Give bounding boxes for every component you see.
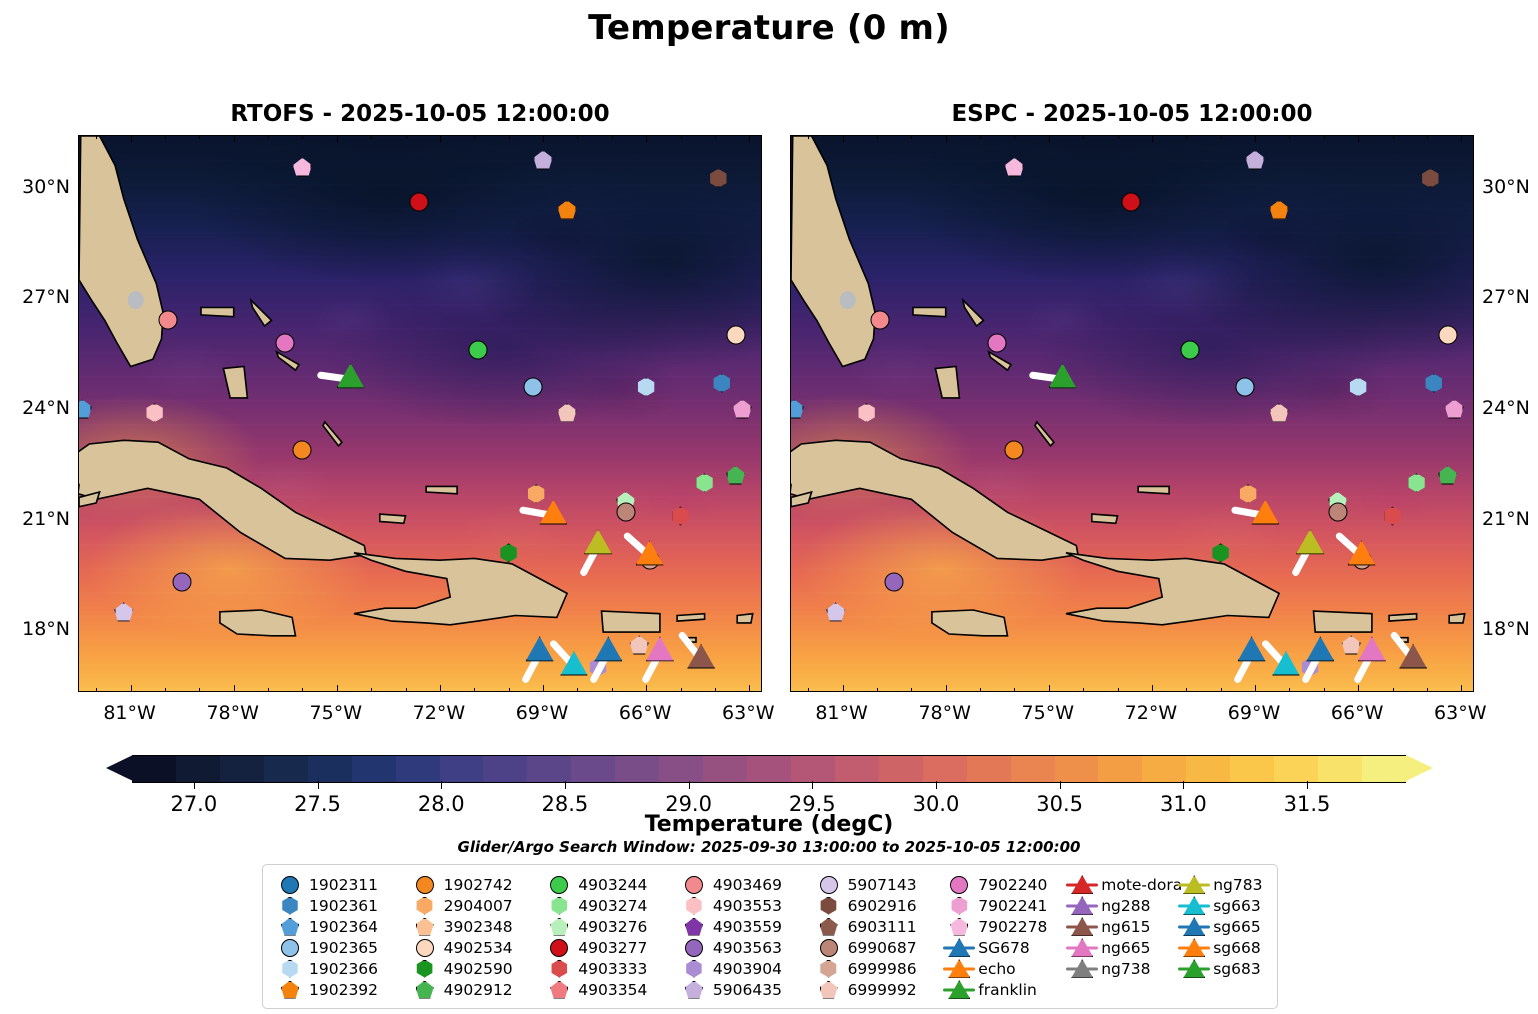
- legend-item-4903563[interactable]: 4903563: [677, 937, 812, 958]
- legend-item-7902278[interactable]: 7902278: [942, 916, 1065, 937]
- legend-item-label: 3902348: [442, 918, 513, 936]
- legend-item-4903559[interactable]: 4903559: [677, 916, 812, 937]
- x-tick-major: [1461, 135, 1462, 142]
- land-virgin-islands: [677, 614, 705, 621]
- glider-marker-SG678[interactable]: [594, 636, 622, 661]
- legend-item-label: 1902365: [307, 939, 378, 957]
- land-anguilla-grp: [1449, 614, 1465, 623]
- y-tick-minor: [761, 261, 762, 262]
- x-axis-label: 75°W: [1022, 702, 1074, 724]
- y-tick-minor: [78, 483, 79, 484]
- panel-title-espc: ESPC - 2025-10-05 12:00:00: [790, 101, 1474, 127]
- triangle-icon: [1399, 644, 1427, 669]
- float-marker-4903274[interactable]: [1407, 473, 1426, 492]
- colorbar-segment: [1274, 756, 1319, 782]
- legend-marker-icon: [1065, 937, 1099, 958]
- y-tick-minor: [1473, 593, 1474, 594]
- legend-item-ng738[interactable]: ng738: [1065, 958, 1177, 979]
- land-great-inagua: [380, 514, 406, 523]
- colorbar-segment: [1011, 756, 1056, 782]
- legend-item-label: franklin: [976, 981, 1037, 999]
- legend-item-label: 6999986: [846, 960, 917, 978]
- legend-item-label: 4903469: [711, 876, 782, 894]
- legend-marker-icon: [273, 895, 307, 916]
- legend-item-1902364[interactable]: 1902364: [273, 916, 408, 937]
- colorbar-segment: [264, 756, 309, 782]
- legend-item-6903111[interactable]: 6903111: [812, 916, 943, 937]
- legend-column-3: 4903244490327449032764903277490333349033…: [542, 874, 677, 1000]
- legend-item-4902912[interactable]: 4902912: [408, 979, 543, 1000]
- x-tick-minor: [911, 135, 912, 139]
- land-virgin-islands: [1389, 614, 1417, 621]
- legend-item-label: 4902590: [442, 960, 513, 978]
- x-axis-label: 69°W: [1228, 702, 1280, 724]
- legend-item-4903904[interactable]: 4903904: [677, 958, 812, 979]
- float-marker-4903244[interactable]: [468, 340, 487, 359]
- legend-item-sg663[interactable]: sg663: [1177, 895, 1267, 916]
- legend-item-sg665[interactable]: sg665: [1177, 916, 1267, 937]
- float-marker-4903553[interactable]: [145, 403, 164, 422]
- legend-item-5907143[interactable]: 5907143: [812, 874, 943, 895]
- legend-marker-icon: [1065, 916, 1099, 937]
- legend-item-label: 1902364: [307, 918, 378, 936]
- x-tick-major: [843, 685, 844, 692]
- float-marker-5906435[interactable]: [1246, 150, 1265, 169]
- glider-marker-ng665[interactable]: [1358, 636, 1386, 661]
- float-marker-4903277[interactable]: [410, 193, 429, 212]
- legend-item-4903469[interactable]: 4903469: [677, 874, 812, 895]
- legend-item-SG678[interactable]: SG678: [942, 937, 1065, 958]
- glider-marker-echo[interactable]: [1348, 540, 1376, 565]
- glider-marker-sg683[interactable]: [1049, 363, 1077, 388]
- x-tick-minor: [715, 135, 716, 139]
- colorbar-segment: [879, 756, 924, 782]
- x-tick-minor: [1014, 688, 1015, 692]
- legend-item-4903244[interactable]: 4903244: [542, 874, 677, 895]
- y-tick-minor: [78, 372, 79, 373]
- y-tick-minor: [761, 593, 762, 594]
- land-florida: [791, 136, 875, 367]
- float-marker-4903333[interactable]: [1383, 506, 1402, 525]
- float-marker-4902534[interactable]: [726, 326, 745, 345]
- legend-item-ng665[interactable]: ng665: [1065, 937, 1177, 958]
- y-tick-minor: [761, 667, 762, 668]
- float-marker-4903469[interactable]: [871, 311, 890, 330]
- float-marker-4902534[interactable]: [1438, 326, 1457, 345]
- float-marker-7902278[interactable]: [1005, 158, 1024, 177]
- float-marker-1902742[interactable]: [293, 440, 312, 459]
- colorbar-gradient: [132, 755, 1406, 783]
- float-marker-1902742[interactable]: [1005, 440, 1024, 459]
- legend-item-label: 1902742: [442, 876, 513, 894]
- legend-item-label: ng288: [1099, 897, 1150, 915]
- pent-icon: [550, 981, 568, 999]
- land-jamaica: [932, 610, 1008, 636]
- map-frame-rtofs[interactable]: [78, 135, 762, 692]
- colorbar-segment: [659, 756, 704, 782]
- y-tick-minor: [78, 261, 79, 262]
- float-marker-1902364[interactable]: [790, 399, 804, 418]
- map-panel-espc: ESPC - 2025-10-05 12:00:00: [790, 135, 1474, 692]
- hex-icon: [685, 897, 703, 915]
- circle-icon: [416, 876, 434, 894]
- legend-item-4903277[interactable]: 4903277: [542, 937, 677, 958]
- coastlines: [791, 136, 1474, 692]
- y-tick-minor: [78, 225, 79, 226]
- float-marker-6902916[interactable]: [1421, 169, 1440, 188]
- glider-marker-ng783[interactable]: [584, 529, 612, 554]
- legend-item-label: sg668: [1211, 939, 1261, 957]
- legend[interactable]: 1902311190236119023641902365190236619023…: [262, 864, 1278, 1009]
- colorbar[interactable]: 27.027.528.028.529.029.530.030.531.031.5: [106, 752, 1432, 786]
- land-abaco: [251, 300, 272, 326]
- float-marker-7902240[interactable]: [988, 333, 1007, 352]
- x-tick-major: [646, 135, 647, 142]
- float-marker-7902278[interactable]: [293, 158, 312, 177]
- legend-column-8: ng783sg663sg665sg668sg683: [1177, 874, 1267, 1000]
- float-marker-6902916[interactable]: [709, 169, 728, 188]
- legend-item-echo[interactable]: echo: [942, 958, 1065, 979]
- legend-item-sg683[interactable]: sg683: [1177, 958, 1267, 979]
- legend-item-label: 4903559: [711, 918, 782, 936]
- x-tick-major: [543, 685, 544, 692]
- colorbar-segment: [1142, 756, 1187, 782]
- legend-item-label: ng615: [1099, 918, 1150, 936]
- x-tick-minor: [911, 688, 912, 692]
- colorbar-segment: [352, 756, 397, 782]
- x-tick-minor: [474, 135, 475, 139]
- x-axis-label: 69°W: [516, 702, 568, 724]
- legend-marker-icon: [273, 979, 307, 1000]
- land-hispaniola: [1066, 553, 1279, 625]
- legend-item-7902240[interactable]: 7902240: [942, 874, 1065, 895]
- legend-marker-icon: [942, 895, 976, 916]
- y-tick-minor: [1473, 446, 1474, 447]
- glider-marker-ng615[interactable]: [687, 644, 715, 669]
- legend-marker-icon: [812, 874, 846, 895]
- legend-marker-icon: [542, 979, 576, 1000]
- triangle-icon: [539, 500, 567, 525]
- colorbar-segment: [791, 756, 836, 782]
- colorbar-extend-min: [106, 755, 133, 781]
- x-tick-minor: [1393, 135, 1394, 139]
- y-tick-minor: [761, 151, 762, 152]
- x-tick-minor: [96, 135, 97, 139]
- float-marker-4903277[interactable]: [1122, 193, 1141, 212]
- legend-item-1902392[interactable]: 1902392: [273, 979, 408, 1000]
- legend-column-4: 4903469490355349035594903563490390459064…: [677, 874, 812, 1000]
- y-tick-minor: [790, 372, 791, 373]
- triangle-icon: [1272, 651, 1300, 676]
- x-tick-minor: [980, 135, 981, 139]
- pent-icon: [685, 918, 703, 936]
- y-tick-major: [1473, 630, 1474, 631]
- circle-icon: [281, 939, 299, 957]
- y-tick-minor: [790, 335, 791, 336]
- triangle-icon: [1306, 636, 1334, 661]
- pent-icon: [416, 918, 434, 936]
- x-tick-minor: [1289, 135, 1290, 139]
- land-long-island: [323, 422, 342, 446]
- legend-marker-icon: [542, 874, 576, 895]
- float-marker-4903563[interactable]: [173, 573, 192, 592]
- pent-icon: [820, 918, 838, 936]
- float-marker-1902361[interactable]: [712, 374, 731, 393]
- float-marker-1902366[interactable]: [1349, 377, 1368, 396]
- legend-item-6990687[interactable]: 6990687: [812, 937, 943, 958]
- legend-item-1902311[interactable]: 1902311: [273, 874, 408, 895]
- float-marker-1902392[interactable]: [1270, 200, 1289, 219]
- legend-item-4902534[interactable]: 4902534: [408, 937, 543, 958]
- x-tick-minor: [474, 688, 475, 692]
- land-puerto-rico: [602, 611, 660, 632]
- legend-marker-icon: [273, 874, 307, 895]
- float-marker-6999992[interactable]: [1270, 403, 1289, 422]
- x-tick-major: [1358, 685, 1359, 692]
- y-tick-major: [761, 409, 762, 410]
- legend-item-1902366[interactable]: 1902366: [273, 958, 408, 979]
- legend-marker-icon: [677, 979, 711, 1000]
- float-marker-1902361[interactable]: [1424, 374, 1443, 393]
- y-tick-minor: [761, 557, 762, 558]
- pent-icon: [820, 981, 838, 999]
- search-window-caption: Glider/Argo Search Window: 2025-09-30 13…: [0, 838, 1538, 856]
- land-florida: [79, 136, 163, 367]
- y-tick-major: [1473, 520, 1474, 521]
- legend-item-label: 6990687: [846, 939, 917, 957]
- legend-columns: 1902311190236119023641902365190236619023…: [273, 874, 1267, 1000]
- float-marker-4903469[interactable]: [159, 311, 178, 330]
- legend-marker-icon: [542, 895, 576, 916]
- x-tick-major: [946, 135, 947, 142]
- y-tick-minor: [790, 261, 791, 262]
- legend-item-6902916[interactable]: 6902916: [812, 895, 943, 916]
- legend-item-4903354[interactable]: 4903354: [542, 979, 677, 1000]
- colorbar-segment: [1186, 756, 1231, 782]
- glider-marker-sg665[interactable]: [526, 636, 554, 661]
- land-long-island: [1035, 422, 1054, 446]
- y-tick-minor: [78, 446, 79, 447]
- legend-item-ng288[interactable]: ng288: [1065, 895, 1177, 916]
- float-marker-4902590[interactable]: [1211, 543, 1230, 562]
- float-marker-4903244[interactable]: [1180, 340, 1199, 359]
- legend-item-label: 4903553: [711, 897, 782, 915]
- glider-marker-sg663[interactable]: [1272, 651, 1300, 676]
- legend-item-6999992[interactable]: 6999992: [812, 979, 943, 1000]
- legend-marker-icon: [408, 874, 442, 895]
- legend-item-1902742[interactable]: 1902742: [408, 874, 543, 895]
- float-marker-4903333[interactable]: [671, 506, 690, 525]
- x-tick-minor: [1118, 688, 1119, 692]
- x-tick-minor: [1014, 135, 1015, 139]
- land-andros: [935, 367, 959, 398]
- y-tick-major: [78, 630, 79, 631]
- legend-item-4903276[interactable]: 4903276: [542, 916, 677, 937]
- float-marker-6999992[interactable]: [558, 403, 577, 422]
- colorbar-tick: [318, 781, 319, 789]
- colorbar-segment: [1055, 756, 1100, 782]
- circle-icon: [685, 939, 703, 957]
- legend-item-1902361[interactable]: 1902361: [273, 895, 408, 916]
- y-tick-minor: [761, 225, 762, 226]
- circle-icon: [820, 939, 838, 957]
- legend-item-1902365[interactable]: 1902365: [273, 937, 408, 958]
- colorbar-segment: [967, 756, 1012, 782]
- land-turks: [1138, 486, 1169, 493]
- circle-icon: [820, 876, 838, 894]
- x-axis-label: 78°W: [918, 702, 970, 724]
- legend-marker-icon: [408, 979, 442, 1000]
- hex-icon: [281, 897, 299, 915]
- y-tick-major: [790, 409, 791, 410]
- legend-item-4903274[interactable]: 4903274: [542, 895, 677, 916]
- x-tick-minor: [1393, 688, 1394, 692]
- float-marker-1902366[interactable]: [637, 377, 656, 396]
- colorbar-tick: [194, 781, 195, 789]
- glider-marker-SG678[interactable]: [1306, 636, 1334, 661]
- legend-marker-icon: [677, 895, 711, 916]
- triangle-icon: [1251, 500, 1279, 525]
- y-tick-minor: [790, 225, 791, 226]
- glider-marker-sg668[interactable]: [539, 500, 567, 525]
- y-tick-minor: [78, 151, 79, 152]
- y-tick-minor: [1473, 225, 1474, 226]
- legend-item-label: SG678: [976, 939, 1029, 957]
- legend-item-5906435[interactable]: 5906435: [677, 979, 812, 1000]
- triangle-icon: [1296, 529, 1324, 554]
- float-marker-5907143[interactable]: [826, 602, 845, 621]
- float-marker-1902392[interactable]: [558, 200, 577, 219]
- legend-item-6999986[interactable]: 6999986: [812, 958, 943, 979]
- legend-marker-icon: [542, 916, 576, 937]
- x-tick-major: [646, 685, 647, 692]
- glider-marker-sg663[interactable]: [560, 651, 588, 676]
- x-axis-label: 81°W: [103, 702, 155, 724]
- float-marker-5906435[interactable]: [534, 150, 553, 169]
- legend-item-mote-dora[interactable]: mote-dora: [1065, 874, 1177, 895]
- colorbar-segment: [703, 756, 748, 782]
- legend-item-label: 6999992: [846, 981, 917, 999]
- legend-marker-icon: [812, 958, 846, 979]
- legend-item-ng615[interactable]: ng615: [1065, 916, 1177, 937]
- legend-item-label: 4903563: [711, 939, 782, 957]
- glider-marker-sg668[interactable]: [1251, 500, 1279, 525]
- land-eleuthera: [989, 352, 1011, 370]
- glider-marker-ng615[interactable]: [1399, 644, 1427, 669]
- legend-marker-icon: [812, 979, 846, 1000]
- legend-item-4902590[interactable]: 4902590: [408, 958, 543, 979]
- float-marker-7902241[interactable]: [733, 399, 752, 418]
- legend-item-label: sg665: [1211, 918, 1261, 936]
- x-axis-label: 78°W: [206, 702, 258, 724]
- land-abaco: [963, 300, 984, 326]
- legend-marker-icon: [273, 937, 307, 958]
- x-tick-minor: [577, 135, 578, 139]
- colorbar-segment: [747, 756, 792, 782]
- float-marker-4903563[interactable]: [885, 573, 904, 592]
- colorbar-label: Temperature (degC): [0, 812, 1538, 837]
- x-tick-minor: [808, 688, 809, 692]
- float-marker-4902912[interactable]: [1438, 466, 1457, 485]
- legend-item-7902241[interactable]: 7902241: [942, 895, 1065, 916]
- colorbar-segment: [483, 756, 528, 782]
- x-axis-label: 63°W: [722, 702, 774, 724]
- colorbar-tick: [1183, 781, 1184, 789]
- float-marker-4903274[interactable]: [695, 473, 714, 492]
- hex-icon: [550, 897, 568, 915]
- legend-item-4903333[interactable]: 4903333: [542, 958, 677, 979]
- float-marker-4902590[interactable]: [499, 543, 518, 562]
- x-tick-minor: [1221, 135, 1222, 139]
- float-marker-1902364[interactable]: [78, 399, 92, 418]
- legend-item-label: 4903244: [576, 876, 647, 894]
- float-marker-6990687[interactable]: [1328, 503, 1347, 522]
- y-tick-minor: [78, 593, 79, 594]
- x-tick-minor: [980, 688, 981, 692]
- glider-marker-ng783[interactable]: [1296, 529, 1324, 554]
- triangle-icon: [584, 529, 612, 554]
- legend-item-2904007[interactable]: 2904007: [408, 895, 543, 916]
- colorbar-tick: [1307, 781, 1308, 789]
- x-tick-minor: [877, 135, 878, 139]
- float-marker-7902240[interactable]: [276, 333, 295, 352]
- x-tick-minor: [165, 688, 166, 692]
- glider-marker-echo[interactable]: [636, 540, 664, 565]
- colorbar-segment: [440, 756, 485, 782]
- legend-item-4903553[interactable]: 4903553: [677, 895, 812, 916]
- legend-marker-icon: [1065, 895, 1099, 916]
- x-tick-major: [337, 685, 338, 692]
- x-tick-major: [1152, 685, 1153, 692]
- land-cuba: [79, 440, 366, 560]
- legend-item-label: 1902311: [307, 876, 378, 894]
- triangle-icon: [646, 636, 674, 661]
- x-tick-major: [1255, 685, 1256, 692]
- y-tick-major: [78, 520, 79, 521]
- legend-item-label: 7902241: [976, 897, 1047, 915]
- y-tick-major: [78, 188, 79, 189]
- hex-icon: [820, 960, 838, 978]
- legend-marker-icon: [408, 937, 442, 958]
- glider-marker-ng665[interactable]: [646, 636, 674, 661]
- x-tick-minor: [268, 135, 269, 139]
- x-tick-major: [440, 685, 441, 692]
- glider-marker-sg683[interactable]: [337, 363, 365, 388]
- land-turks: [426, 486, 457, 493]
- float-marker-6990687[interactable]: [616, 503, 635, 522]
- y-tick-minor: [790, 557, 791, 558]
- x-tick-minor: [577, 688, 578, 692]
- glider-marker-sg665[interactable]: [1238, 636, 1266, 661]
- legend-item-sg668[interactable]: sg668: [1177, 937, 1267, 958]
- y-axis-label-left: 27°N: [8, 286, 70, 308]
- legend-item-ng783[interactable]: ng783: [1177, 874, 1267, 895]
- float-marker-1902365[interactable]: [1235, 377, 1254, 396]
- legend-item-3902348[interactable]: 3902348: [408, 916, 543, 937]
- y-tick-minor: [1473, 372, 1474, 373]
- float-marker-5907143[interactable]: [114, 602, 133, 621]
- float-marker-1902365[interactable]: [523, 377, 542, 396]
- float-marker-4903553[interactable]: [857, 403, 876, 422]
- triangle-icon: [1238, 636, 1266, 661]
- float-marker-4902912[interactable]: [726, 466, 745, 485]
- y-tick-major: [790, 298, 791, 299]
- map-frame-espc[interactable]: [790, 135, 1474, 692]
- float-marker-7902241[interactable]: [1445, 399, 1464, 418]
- legend-marker-icon: [812, 895, 846, 916]
- legend-item-franklin[interactable]: franklin: [942, 979, 1065, 1000]
- legend-item-label: 1902361: [307, 897, 378, 915]
